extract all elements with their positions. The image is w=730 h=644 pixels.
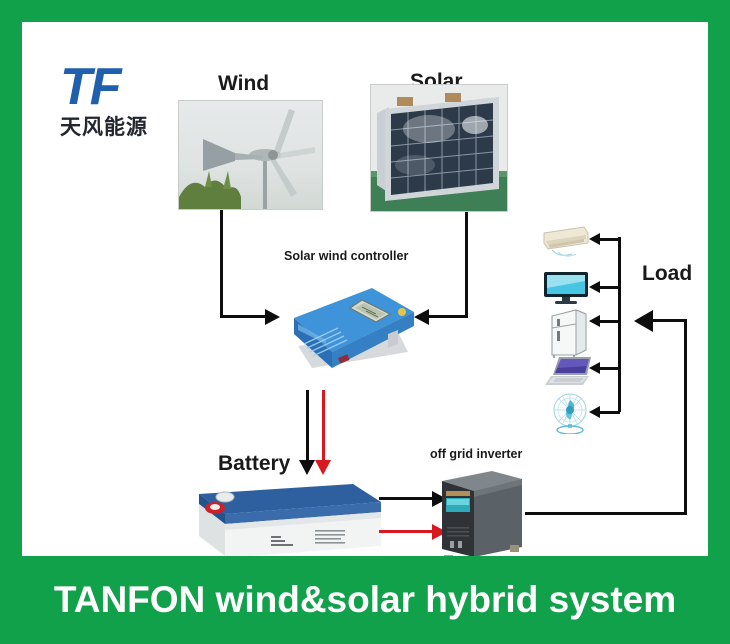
load-branch-television — [600, 286, 620, 289]
label-load: Load — [642, 262, 692, 286]
flow-solar-to-controller-vertical — [465, 212, 468, 318]
fan-icon — [546, 392, 594, 434]
load-branch-fan — [600, 411, 620, 414]
battery-device — [185, 474, 385, 560]
load-branch-laptop — [600, 367, 620, 370]
off-grid-inverter-device — [434, 465, 528, 565]
flow-inverter-to-load-right-riser — [684, 319, 687, 515]
arrowhead-inverter-to-load — [634, 310, 653, 332]
refrigerator-icon — [548, 308, 590, 358]
load-branch-refrigerator — [600, 320, 620, 323]
flow-wind-to-controller-vertical — [220, 210, 223, 318]
diagram-canvas: TF 天风能源 Wind Solar Load Battery Solar wi… — [22, 22, 708, 556]
logo-chinese-name: 天风能源 — [60, 114, 190, 140]
title-bar: TANFON wind&solar hybrid system — [0, 556, 730, 644]
label-wind: Wind — [218, 72, 269, 96]
load-bus-vertical — [618, 237, 621, 412]
flow-wind-to-controller-horizontal — [220, 315, 266, 318]
solar-wind-controller-device — [276, 272, 416, 382]
page-title: TANFON wind&solar hybrid system — [54, 579, 676, 621]
company-logo: TF 天风能源 — [60, 60, 190, 155]
flow-battery-to-inverter-red — [379, 530, 434, 533]
load-branch-air-conditioner — [600, 238, 620, 241]
arrowhead-solar-to-controller — [414, 309, 429, 325]
flow-controller-to-battery-red — [322, 390, 325, 462]
flow-solar-to-controller-horizontal — [429, 315, 468, 318]
label-off-grid-inverter: off grid inverter — [430, 447, 522, 461]
television-icon — [542, 270, 592, 306]
air-conditioner-icon — [540, 223, 592, 257]
diagram-root: TF 天风能源 Wind Solar Load Battery Solar wi… — [0, 0, 730, 644]
label-battery: Battery — [218, 452, 290, 476]
label-solar-wind-controller: Solar wind controller — [284, 249, 408, 263]
wind-turbine-photo — [178, 100, 323, 210]
logo-mark: TF — [60, 60, 190, 114]
arrowhead-controller-to-battery-black — [299, 460, 315, 475]
arrowhead-controller-to-battery-red — [315, 460, 331, 475]
arrowhead-refrigerator — [589, 315, 600, 327]
flow-controller-to-battery-black — [306, 390, 309, 462]
flow-battery-to-inverter-black — [379, 497, 434, 500]
flow-inverter-to-load-top — [652, 319, 687, 322]
flow-inverter-to-load-bottom — [525, 512, 687, 515]
laptop-icon — [543, 355, 597, 389]
solar-panel-photo — [370, 84, 508, 212]
